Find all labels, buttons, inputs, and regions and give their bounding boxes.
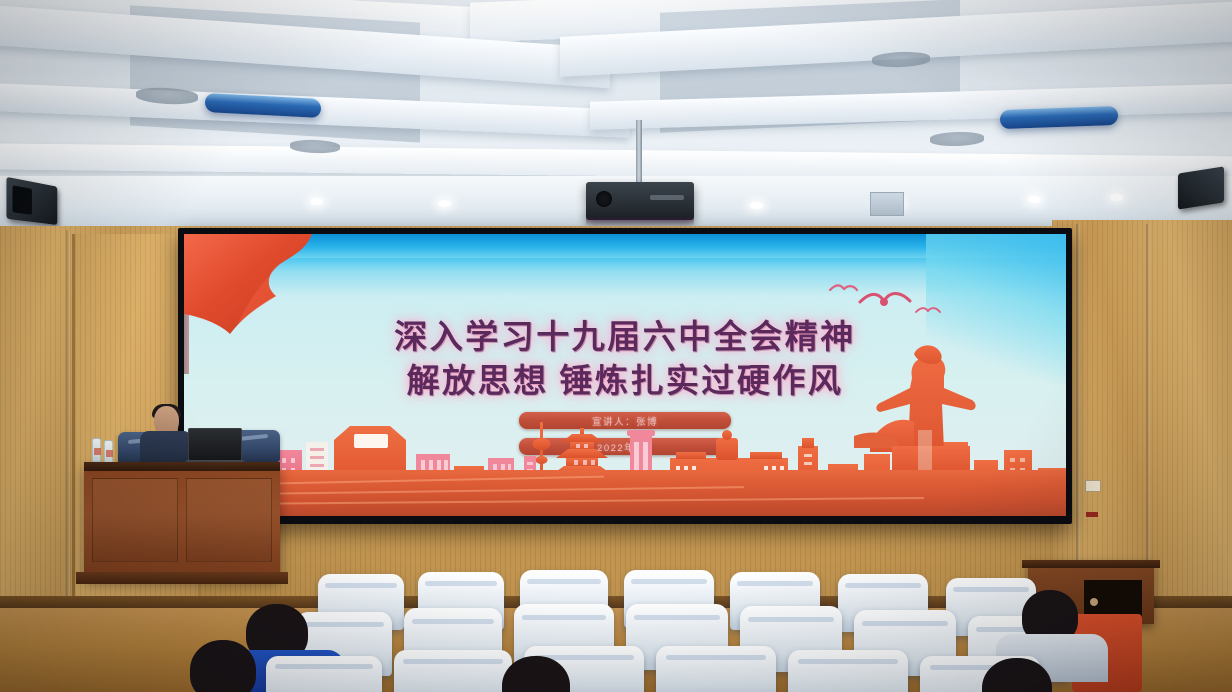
blue-linear-light	[1000, 106, 1118, 129]
desk-top-edge	[84, 462, 280, 471]
ceiling-vent-grille	[870, 192, 904, 216]
desk-base	[76, 572, 288, 584]
auditorium-scene: 深入学习十九届六中全会精神 解放思想 锤炼扎实过硬作风 宣讲人：张博 2022年…	[0, 0, 1232, 692]
led-display-screen: 深入学习十九届六中全会精神 解放思想 锤炼扎实过硬作风 宣讲人：张博 2022年…	[178, 228, 1072, 524]
side-table-knob-icon	[1090, 598, 1098, 606]
recessed-spotlight-icon	[438, 200, 451, 207]
water-bottle	[104, 440, 113, 464]
slide-content: 深入学习十九届六中全会精神 解放思想 锤炼扎实过硬作风 宣讲人：张博 2022年…	[184, 234, 1066, 516]
monument-statue-graphic	[852, 330, 1002, 480]
recessed-spotlight-icon	[1028, 196, 1041, 203]
ceiling-projector	[586, 182, 694, 220]
wall-switch-plate[interactable]	[1085, 480, 1101, 492]
presenter-laptop	[186, 428, 244, 464]
presentation-desk	[84, 462, 280, 578]
desk-panel	[186, 478, 272, 562]
water-bottle	[92, 438, 101, 462]
projector-shadow	[586, 218, 694, 226]
audience-seat	[656, 646, 776, 692]
audience-seat	[394, 650, 512, 692]
side-table-top	[1022, 560, 1160, 568]
wall-seam	[66, 230, 70, 598]
wall-outlet-indicator	[1086, 512, 1098, 517]
projector-mount-rod	[636, 120, 642, 184]
wall-seam	[1076, 224, 1080, 604]
slide-ground-band	[184, 470, 1066, 516]
air-vent-icon	[930, 131, 984, 146]
presenter-person	[140, 406, 192, 466]
recessed-spotlight-icon	[750, 202, 763, 209]
wall-seam	[1146, 224, 1150, 604]
wall-speaker-icon	[1178, 166, 1224, 209]
attendee-head	[190, 640, 256, 692]
recessed-spotlight-icon	[1110, 194, 1123, 201]
audience-seat	[266, 656, 382, 692]
audience-seat	[788, 650, 908, 692]
recessed-spotlight-icon	[310, 198, 323, 205]
laptop-screen	[188, 428, 242, 461]
desk-panel	[92, 478, 178, 562]
